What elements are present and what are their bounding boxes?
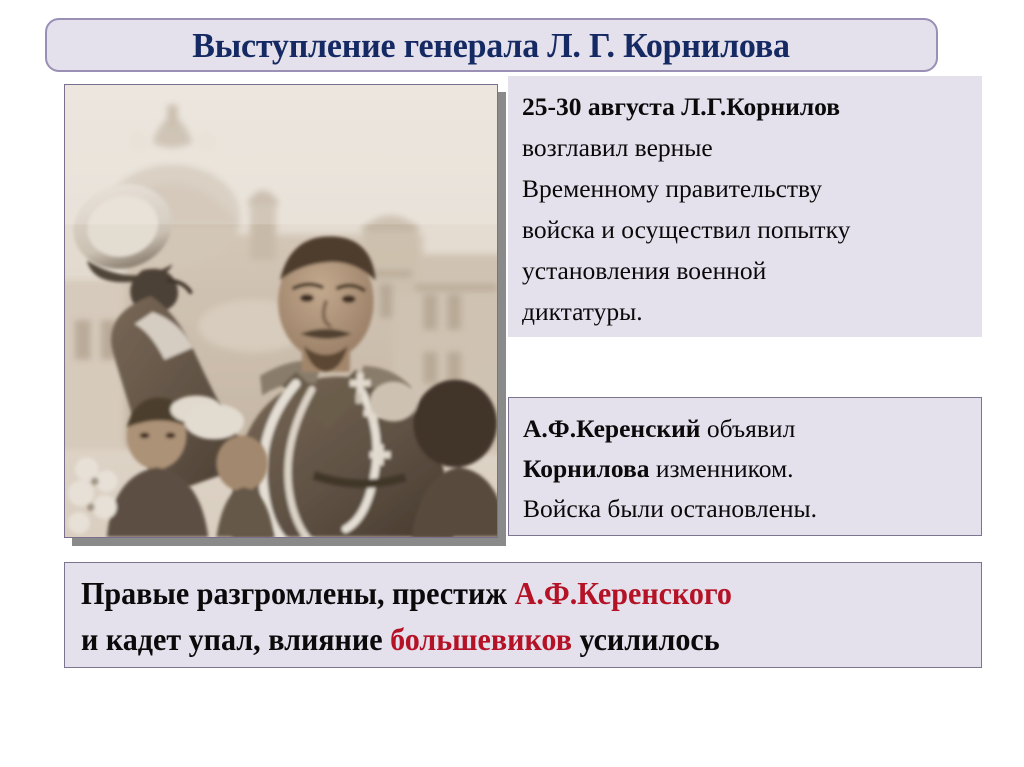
photo-container [64, 84, 498, 538]
slide-canvas: Выступление генерала Л. Г. Корнилова [0, 0, 1024, 767]
conclusion-line-2-tail: усилилось [572, 621, 720, 657]
box2-kerensky-name: А.Ф.Керенский [523, 414, 701, 443]
box1-line-4: войска и осуществил попытку [522, 209, 970, 250]
conclusion-box: Правые разгромлены, престиж А.Ф.Керенско… [64, 562, 982, 668]
box1-line-2: возглавил верные [522, 127, 970, 168]
slide-title-banner: Выступление генерала Л. Г. Корнилова [45, 18, 938, 72]
box1-line-3: Временному правительству [522, 168, 970, 209]
kornilov-photo [64, 84, 498, 538]
kornilov-description-box: 25-30 августа Л.Г.Корнилов возглавил вер… [508, 76, 982, 337]
conclusion-line-1: Правые разгромлены, престиж А.Ф.Керенско… [81, 570, 927, 616]
box1-line-1: 25-30 августа Л.Г.Корнилов [522, 86, 970, 127]
conclusion-accent-bolsheviks: большевиков [390, 621, 572, 657]
box2-line-1: А.Ф.Керенский объявил [523, 409, 969, 449]
conclusion-line-1-text: Правые разгромлены, престиж [81, 575, 515, 611]
conclusion-accent-kerensky: А.Ф.Керенского [515, 575, 732, 611]
conclusion-line-2-text: и кадет упал, влияние [81, 621, 390, 657]
box2-line-2-rest: изменником. [649, 454, 793, 483]
box2-line-2: Корнилова изменником. [523, 449, 969, 489]
box2-kornilov-name: Корнилова [523, 454, 649, 483]
kerensky-response-box: А.Ф.Керенский объявил Корнилова изменник… [508, 397, 982, 536]
box1-line-5: установления военной [522, 250, 970, 291]
page-title: Выступление генерала Л. Г. Корнилова [193, 28, 791, 63]
box1-line-6: диктатуры. [522, 291, 970, 332]
box2-line-1-rest: объявил [701, 414, 796, 443]
conclusion-line-2: и кадет упал, влияние большевиков усилил… [81, 616, 927, 662]
box2-line-3: Войска были остановлены. [523, 489, 969, 529]
